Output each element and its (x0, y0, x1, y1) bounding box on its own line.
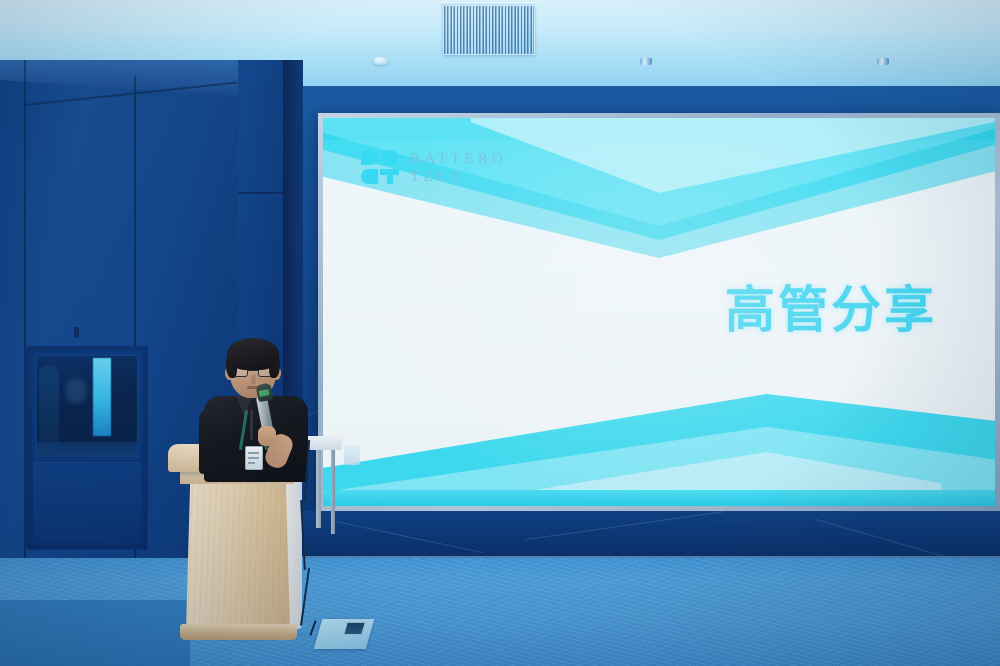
hand (258, 426, 276, 446)
presentation-slide[interactable]: BATTERO TECH 高管分享 (323, 118, 995, 506)
alcove-light-panel (93, 358, 111, 436)
lower-wall (296, 511, 1000, 560)
podium-wood-grain (186, 482, 290, 630)
logo-line-1: BATTERO (410, 150, 507, 168)
battero-logo: BATTERO TECH (361, 150, 507, 187)
side-table-leg (331, 450, 335, 534)
wall-switch (74, 327, 79, 338)
alcove-silhouette (39, 366, 59, 450)
alcove-glass (36, 355, 138, 457)
battero-wordmark: BATTERO TECH (410, 150, 507, 187)
battero-monogram-icon (361, 150, 399, 186)
panel-seam (238, 192, 286, 194)
wall-alcove (26, 346, 148, 550)
logo-line-2: TECH (410, 168, 507, 186)
hair (227, 338, 279, 370)
alcove-floor (37, 442, 137, 456)
led-screen-frame: BATTERO TECH 高管分享 (318, 113, 1000, 511)
presentation-photo: BATTERO TECH 高管分享 (0, 0, 1000, 666)
slide-chevron-bottom-band (323, 490, 995, 506)
ceiling-speaker-icon (640, 58, 652, 65)
speaker-person (198, 330, 318, 470)
smoke-detector-icon (373, 57, 389, 65)
ceiling-speaker-icon (877, 58, 889, 65)
alcove-lower-panel (32, 460, 142, 544)
floor-plate-port (343, 622, 366, 635)
id-badge (245, 446, 263, 470)
alcove-reflection (65, 378, 87, 404)
water-cup (344, 445, 360, 465)
shirt-placket (250, 410, 253, 440)
slide-title: 高管分享 (725, 270, 937, 342)
carpet-foreground (0, 600, 190, 666)
hvac-vent-icon (443, 5, 535, 55)
podium-base (180, 624, 297, 640)
